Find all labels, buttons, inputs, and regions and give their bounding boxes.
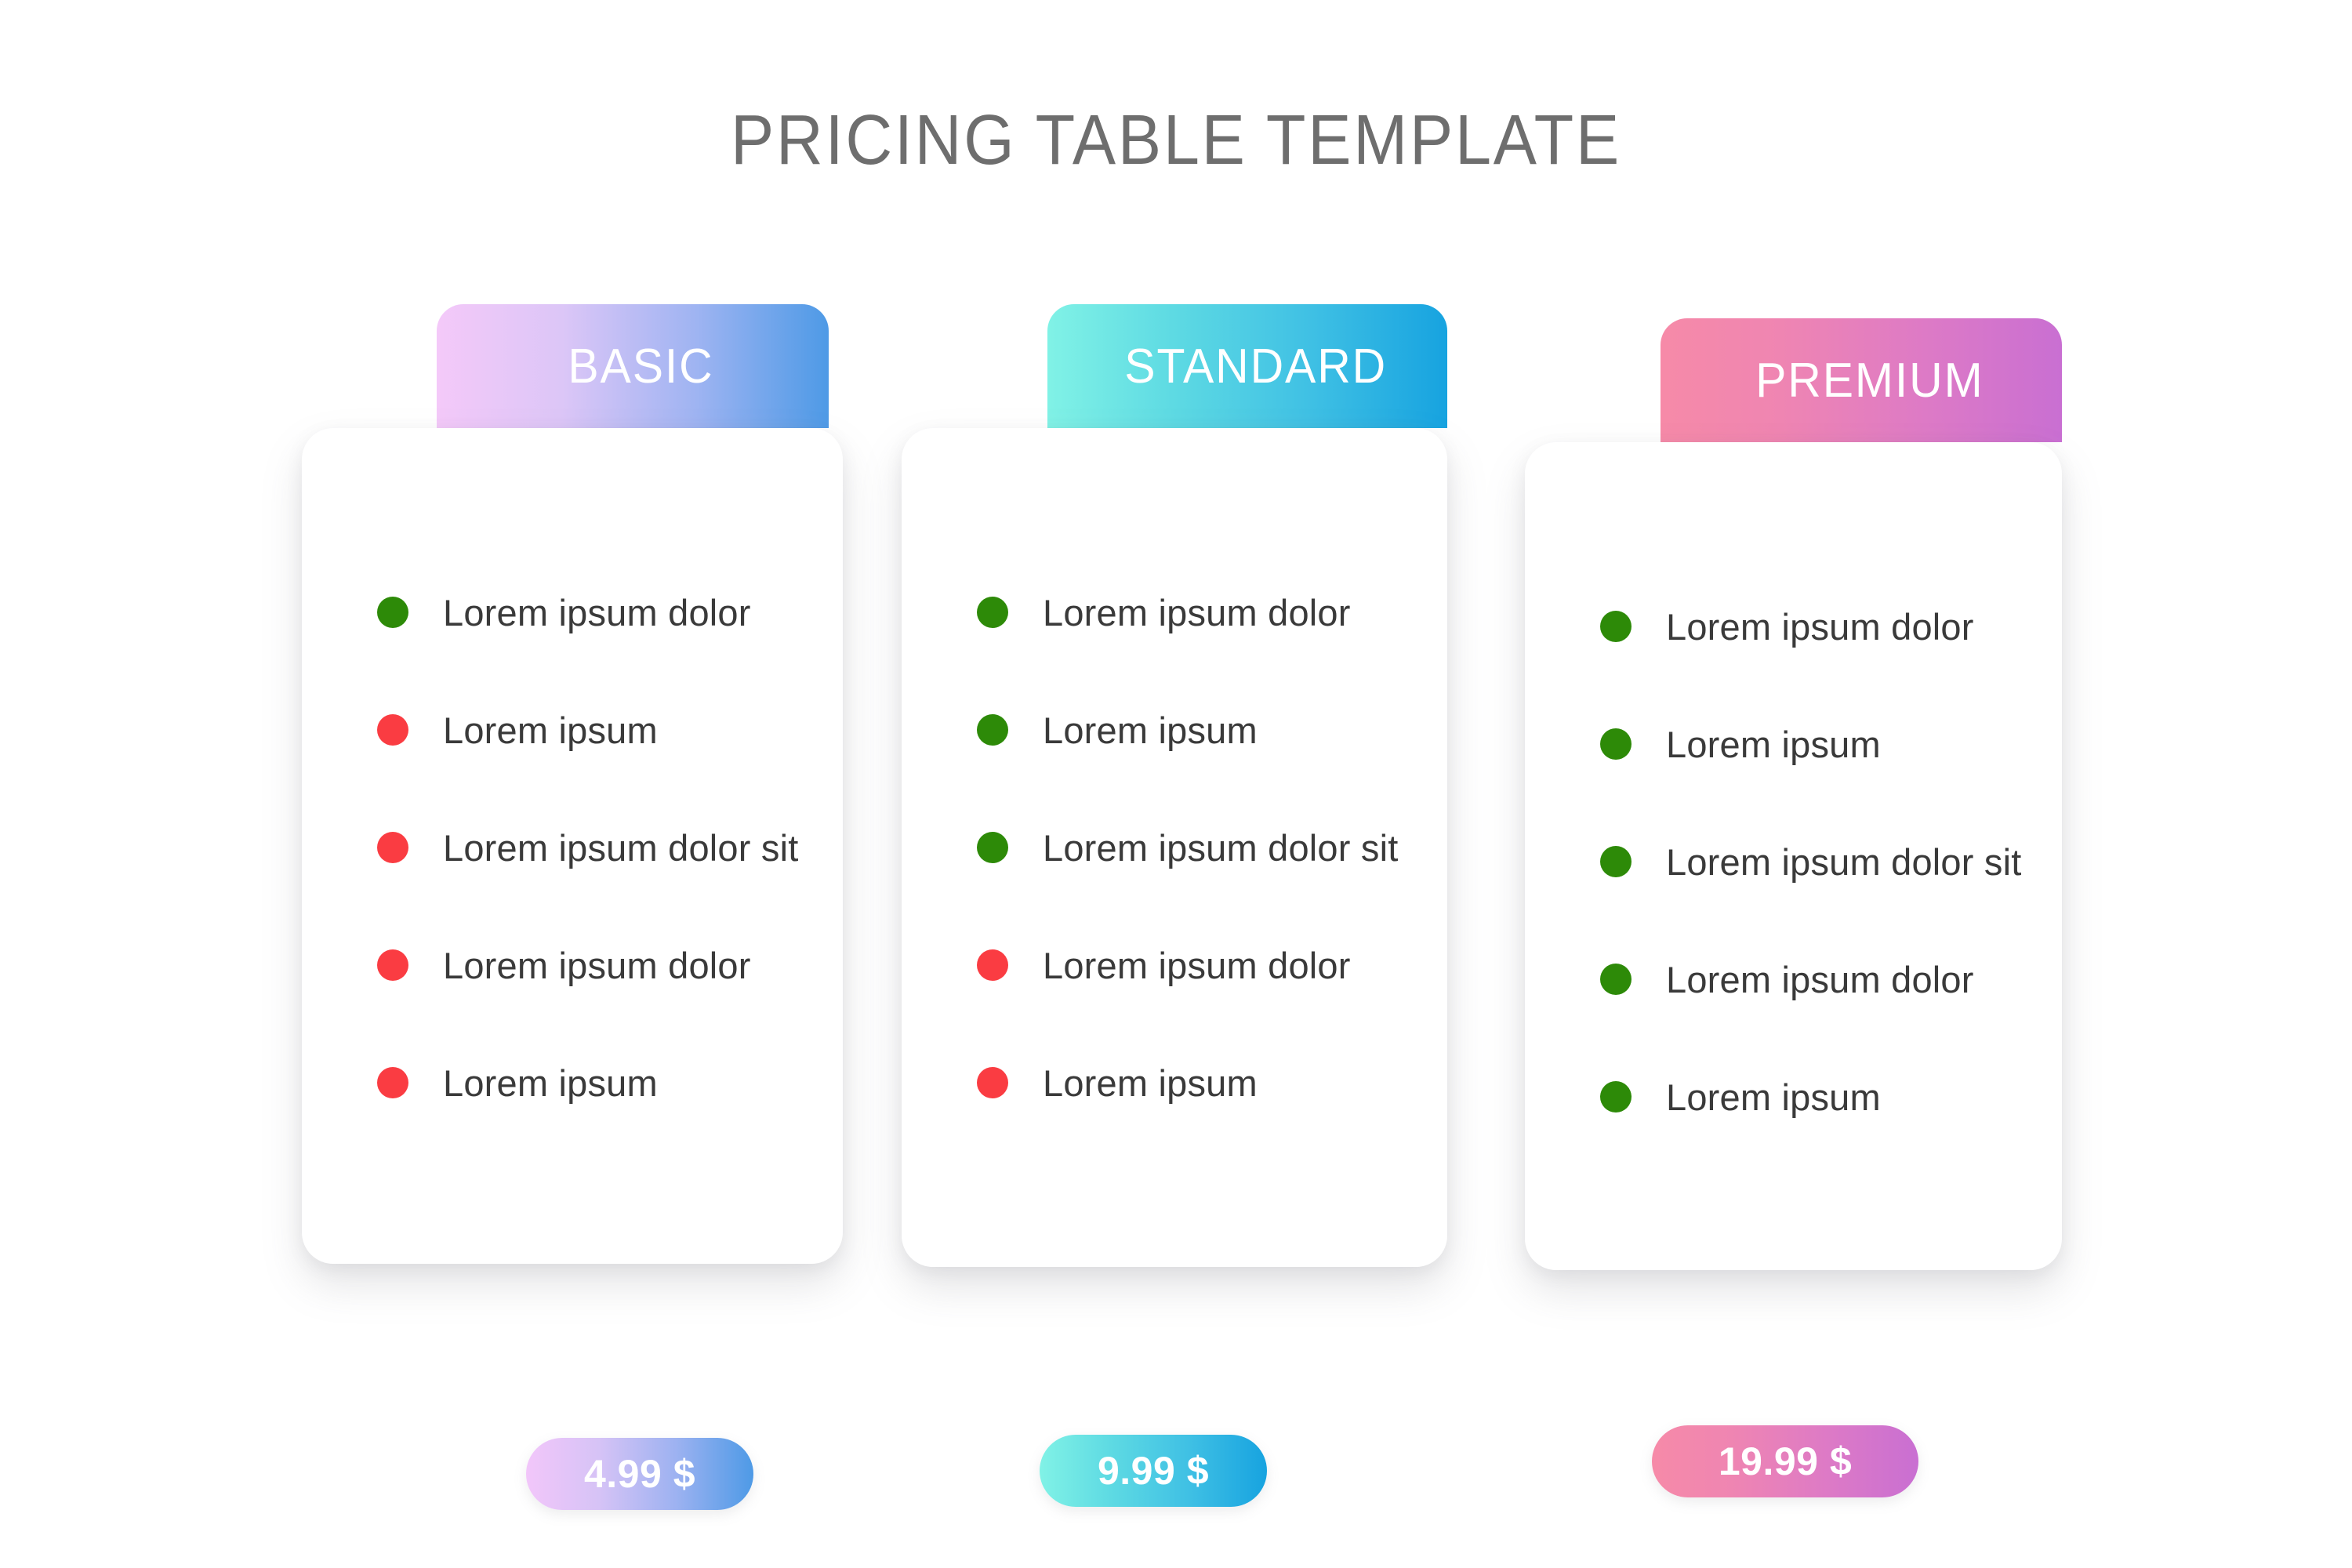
list-item: Lorem ipsum dolor (1600, 568, 2031, 685)
plan-header-basic: BASIC (437, 304, 829, 428)
plan-card-premium[interactable]: Lorem ipsum dolor Lorem ipsum Lorem ipsu… (1525, 442, 2062, 1270)
feature-label: Lorem ipsum dolor (443, 944, 751, 987)
status-dot-excluded-icon (977, 1067, 1008, 1098)
status-dot-included-icon (1600, 1081, 1632, 1112)
plan-card-standard[interactable]: Lorem ipsum dolor Lorem ipsum Lorem ipsu… (902, 428, 1447, 1267)
plan-header-premium: PREMIUM (1661, 318, 2062, 442)
price-label: 9.99 $ (1098, 1448, 1209, 1494)
price-button-standard[interactable]: 9.99 $ (1040, 1435, 1267, 1507)
list-item: Lorem ipsum (377, 1024, 811, 1142)
price-label: 19.99 $ (1719, 1439, 1852, 1484)
list-item: Lorem ipsum (977, 1024, 1416, 1142)
feature-list-basic: Lorem ipsum dolor Lorem ipsum Lorem ipsu… (377, 554, 811, 1142)
list-item: Lorem ipsum dolor sit (377, 789, 811, 906)
list-item: Lorem ipsum dolor (977, 554, 1416, 671)
feature-label: Lorem ipsum (1666, 723, 1881, 766)
price-label: 4.99 $ (584, 1451, 695, 1497)
feature-list-standard: Lorem ipsum dolor Lorem ipsum Lorem ipsu… (977, 554, 1416, 1142)
list-item: Lorem ipsum dolor (377, 554, 811, 671)
status-dot-included-icon (377, 597, 408, 628)
feature-label: Lorem ipsum dolor (1666, 958, 1974, 1001)
feature-label: Lorem ipsum dolor (443, 591, 751, 634)
feature-list-premium: Lorem ipsum dolor Lorem ipsum Lorem ipsu… (1600, 568, 2031, 1156)
status-dot-included-icon (977, 597, 1008, 628)
plan-header-standard: STANDARD (1047, 304, 1447, 428)
status-dot-included-icon (1600, 728, 1632, 760)
list-item: Lorem ipsum dolor sit (977, 789, 1416, 906)
feature-label: Lorem ipsum (1666, 1076, 1881, 1119)
feature-label: Lorem ipsum (443, 1062, 658, 1105)
list-item: Lorem ipsum dolor (377, 906, 811, 1024)
feature-label: Lorem ipsum dolor (1043, 944, 1351, 987)
list-item: Lorem ipsum (977, 671, 1416, 789)
list-item: Lorem ipsum dolor (1600, 920, 2031, 1038)
plan-name-standard: STANDARD (1108, 339, 1387, 394)
feature-label: Lorem ipsum (1043, 1062, 1258, 1105)
plan-name-premium: PREMIUM (1739, 353, 1984, 408)
status-dot-included-icon (977, 832, 1008, 863)
feature-label: Lorem ipsum dolor sit (1043, 826, 1398, 869)
list-item: Lorem ipsum dolor (977, 906, 1416, 1024)
status-dot-included-icon (977, 714, 1008, 746)
status-dot-included-icon (1600, 964, 1632, 995)
feature-label: Lorem ipsum dolor (1043, 591, 1351, 634)
status-dot-excluded-icon (977, 949, 1008, 981)
status-dot-included-icon (1600, 846, 1632, 877)
price-button-premium[interactable]: 19.99 $ (1652, 1425, 1918, 1497)
feature-label: Lorem ipsum (1043, 709, 1258, 752)
feature-label: Lorem ipsum dolor sit (1666, 840, 2021, 884)
status-dot-excluded-icon (377, 949, 408, 981)
plan-name-basic: BASIC (551, 339, 713, 394)
status-dot-excluded-icon (377, 714, 408, 746)
feature-label: Lorem ipsum dolor (1666, 605, 1974, 648)
list-item: Lorem ipsum (377, 671, 811, 789)
list-item: Lorem ipsum dolor sit (1600, 803, 2031, 920)
list-item: Lorem ipsum (1600, 685, 2031, 803)
status-dot-excluded-icon (377, 1067, 408, 1098)
plan-card-basic[interactable]: Lorem ipsum dolor Lorem ipsum Lorem ipsu… (302, 428, 843, 1264)
feature-label: Lorem ipsum dolor sit (443, 826, 798, 869)
price-button-basic[interactable]: 4.99 $ (526, 1438, 753, 1510)
status-dot-excluded-icon (377, 832, 408, 863)
list-item: Lorem ipsum (1600, 1038, 2031, 1156)
status-dot-included-icon (1600, 611, 1632, 642)
pricing-plans-container: BASIC Lorem ipsum dolor Lorem ipsum Lore… (0, 0, 2352, 1568)
feature-label: Lorem ipsum (443, 709, 658, 752)
